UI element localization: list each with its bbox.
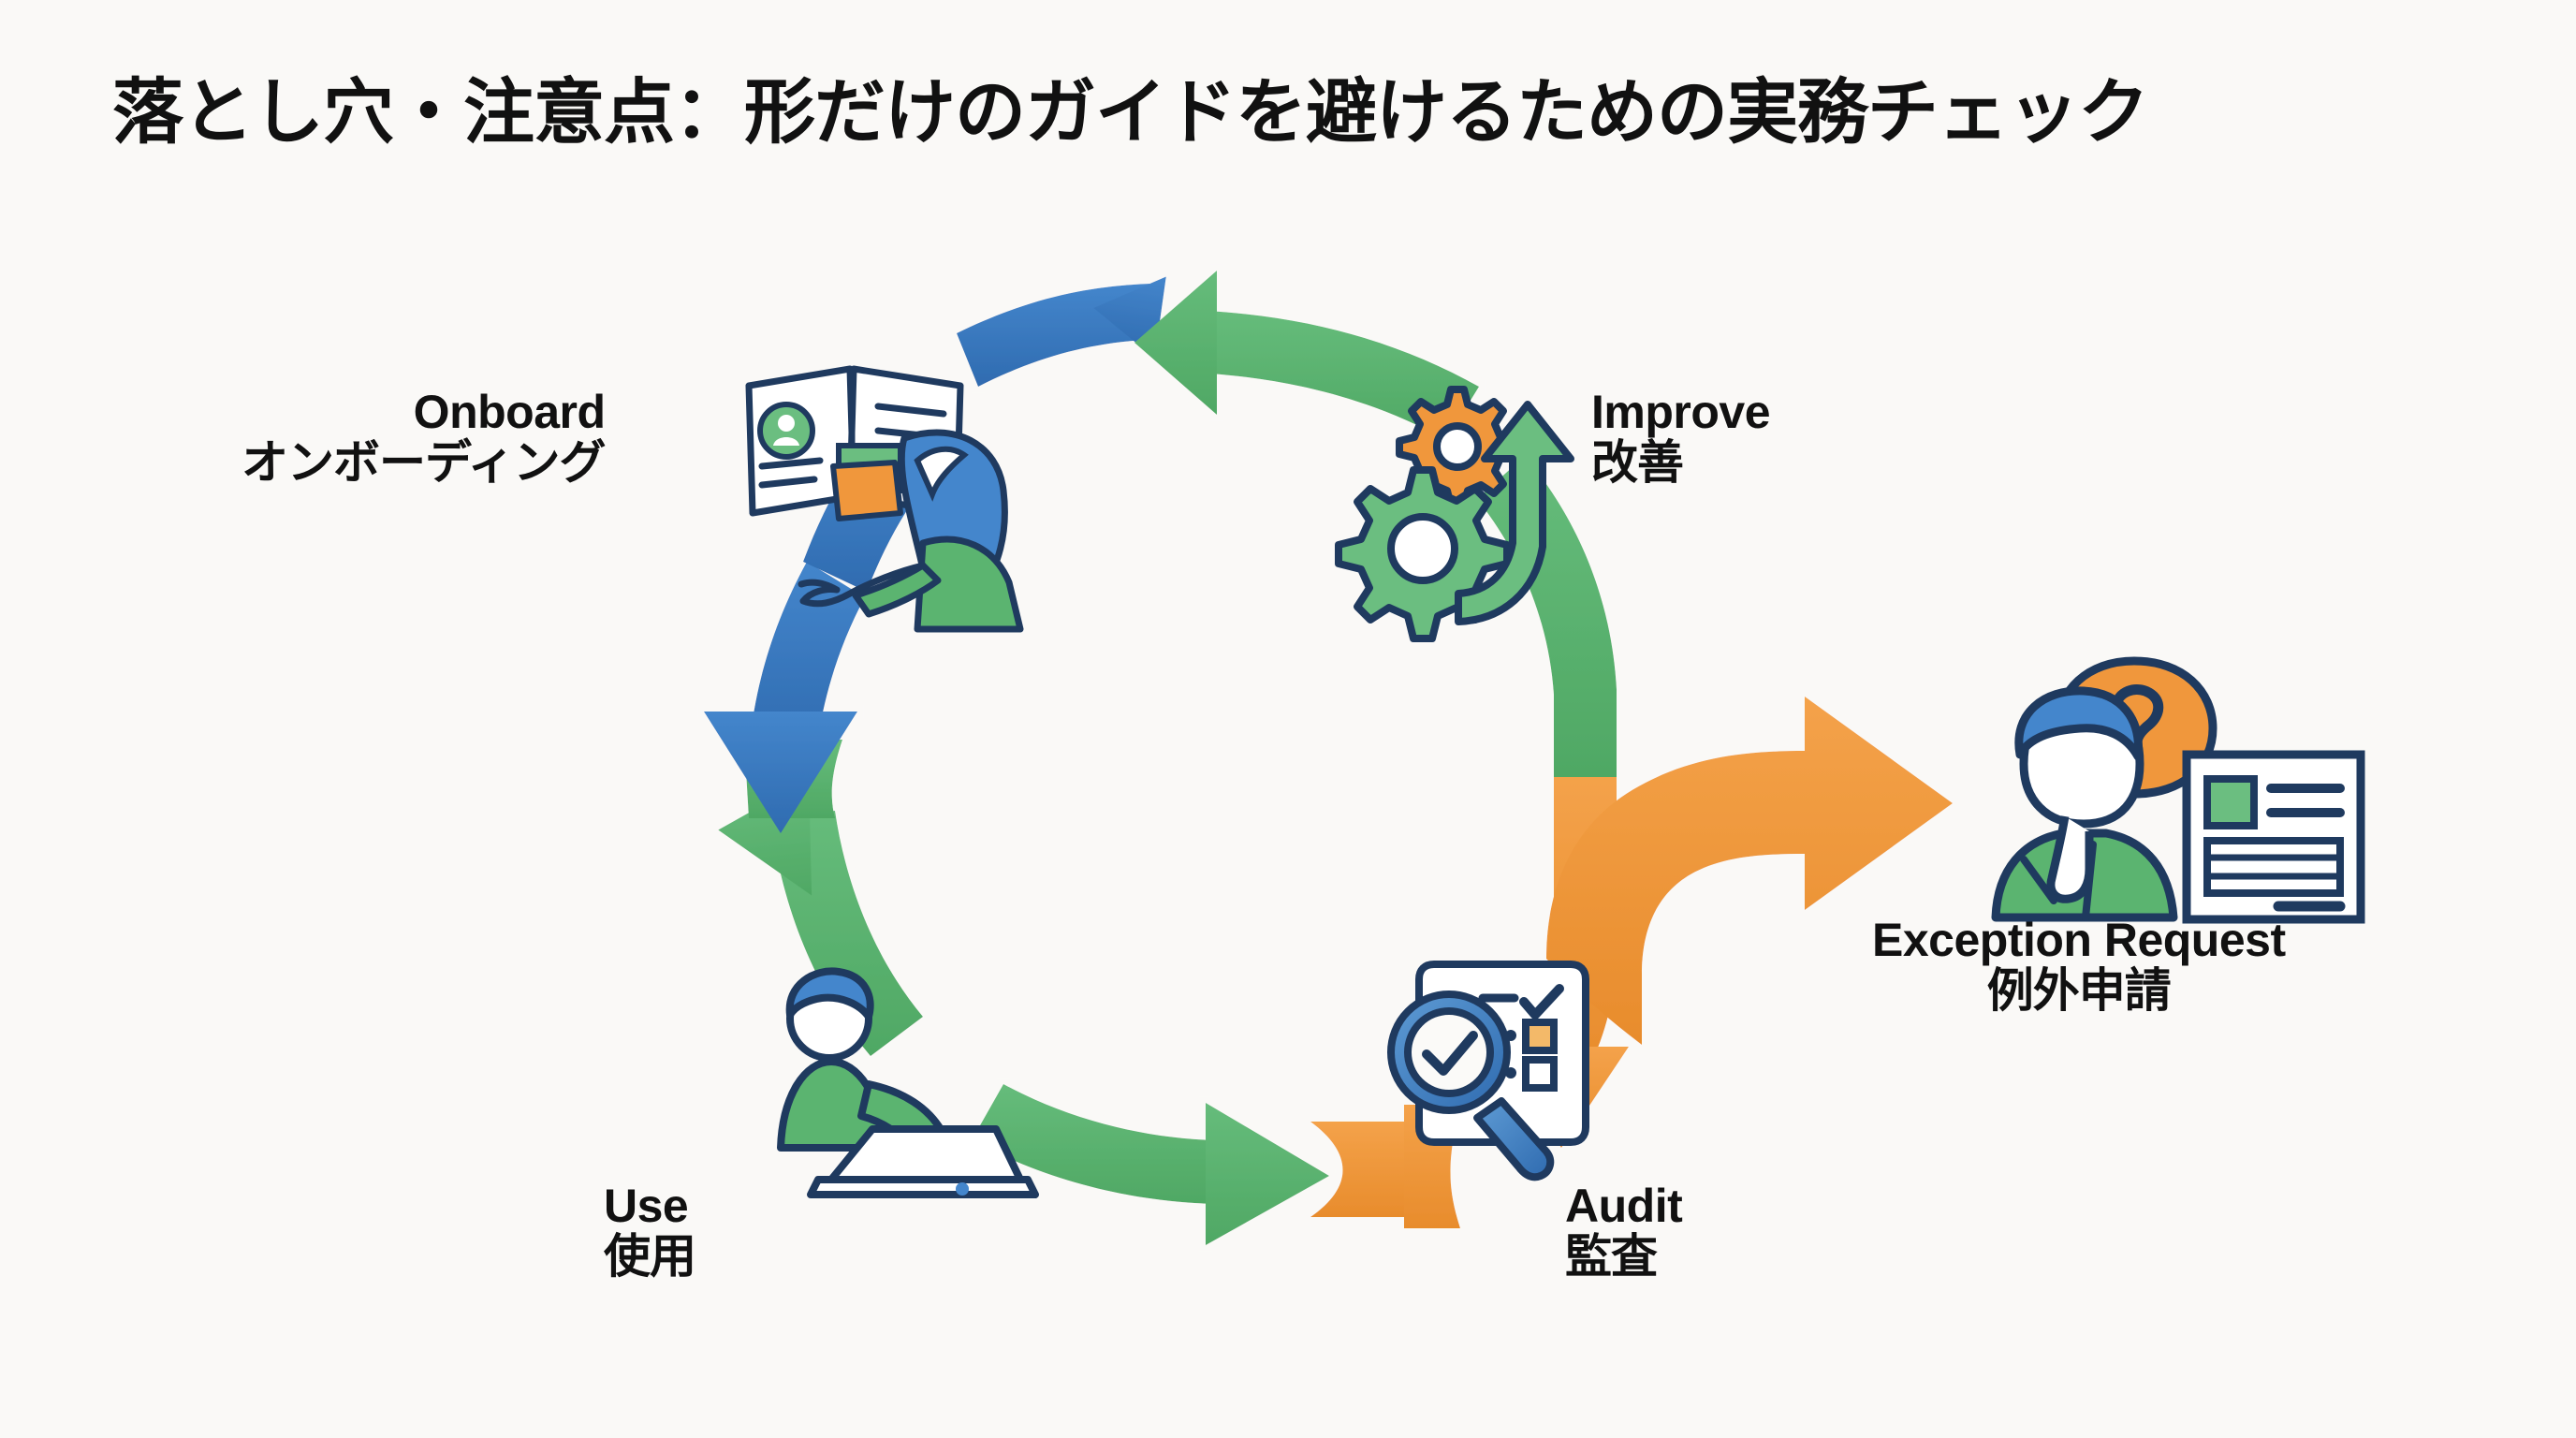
stage-label-audit-jp: 監査 [1565,1230,1682,1283]
stage-label-audit-en: Audit [1565,1181,1682,1230]
stage-label-onboard: Onboard オンボーディング [241,388,606,489]
document-icon [2187,755,2361,919]
arrow-use-to-onboard [704,562,865,833]
stage-label-improve-en: Improve [1591,388,1770,436]
stage-label-audit: Audit 監査 [1565,1181,1682,1283]
stage-label-use-jp: 使用 [604,1230,695,1283]
stage-label-onboard-jp: オンボーディング [241,436,606,489]
arrow-onboard-to-improve [957,267,1166,387]
arrow-improve-to-audit [1477,456,1617,777]
stage-label-improve-jp: 改善 [1591,436,1770,489]
branch-label-exception-request-en: Exception Request [1872,916,2286,964]
person-with-handbook-icon [749,369,1020,629]
arrow-audit-to-use [972,1084,1460,1245]
stage-label-improve: Improve 改善 [1591,388,1770,489]
branch-label-exception-request-jp: 例外申請 [1872,964,2286,1017]
stage-label-use-en: Use [604,1181,695,1230]
cycle-diagram-graphic [0,0,2576,1438]
person-question-document-icon [1996,661,2361,919]
branch-label-exception-request: Exception Request 例外申請 [1872,916,2286,1017]
stage-label-onboard-en: Onboard [241,388,606,436]
diagram-canvas: 落とし穴・注意点：形だけのガイドを避けるための実務チェック [0,0,2576,1438]
stage-label-use: Use 使用 [604,1181,695,1283]
